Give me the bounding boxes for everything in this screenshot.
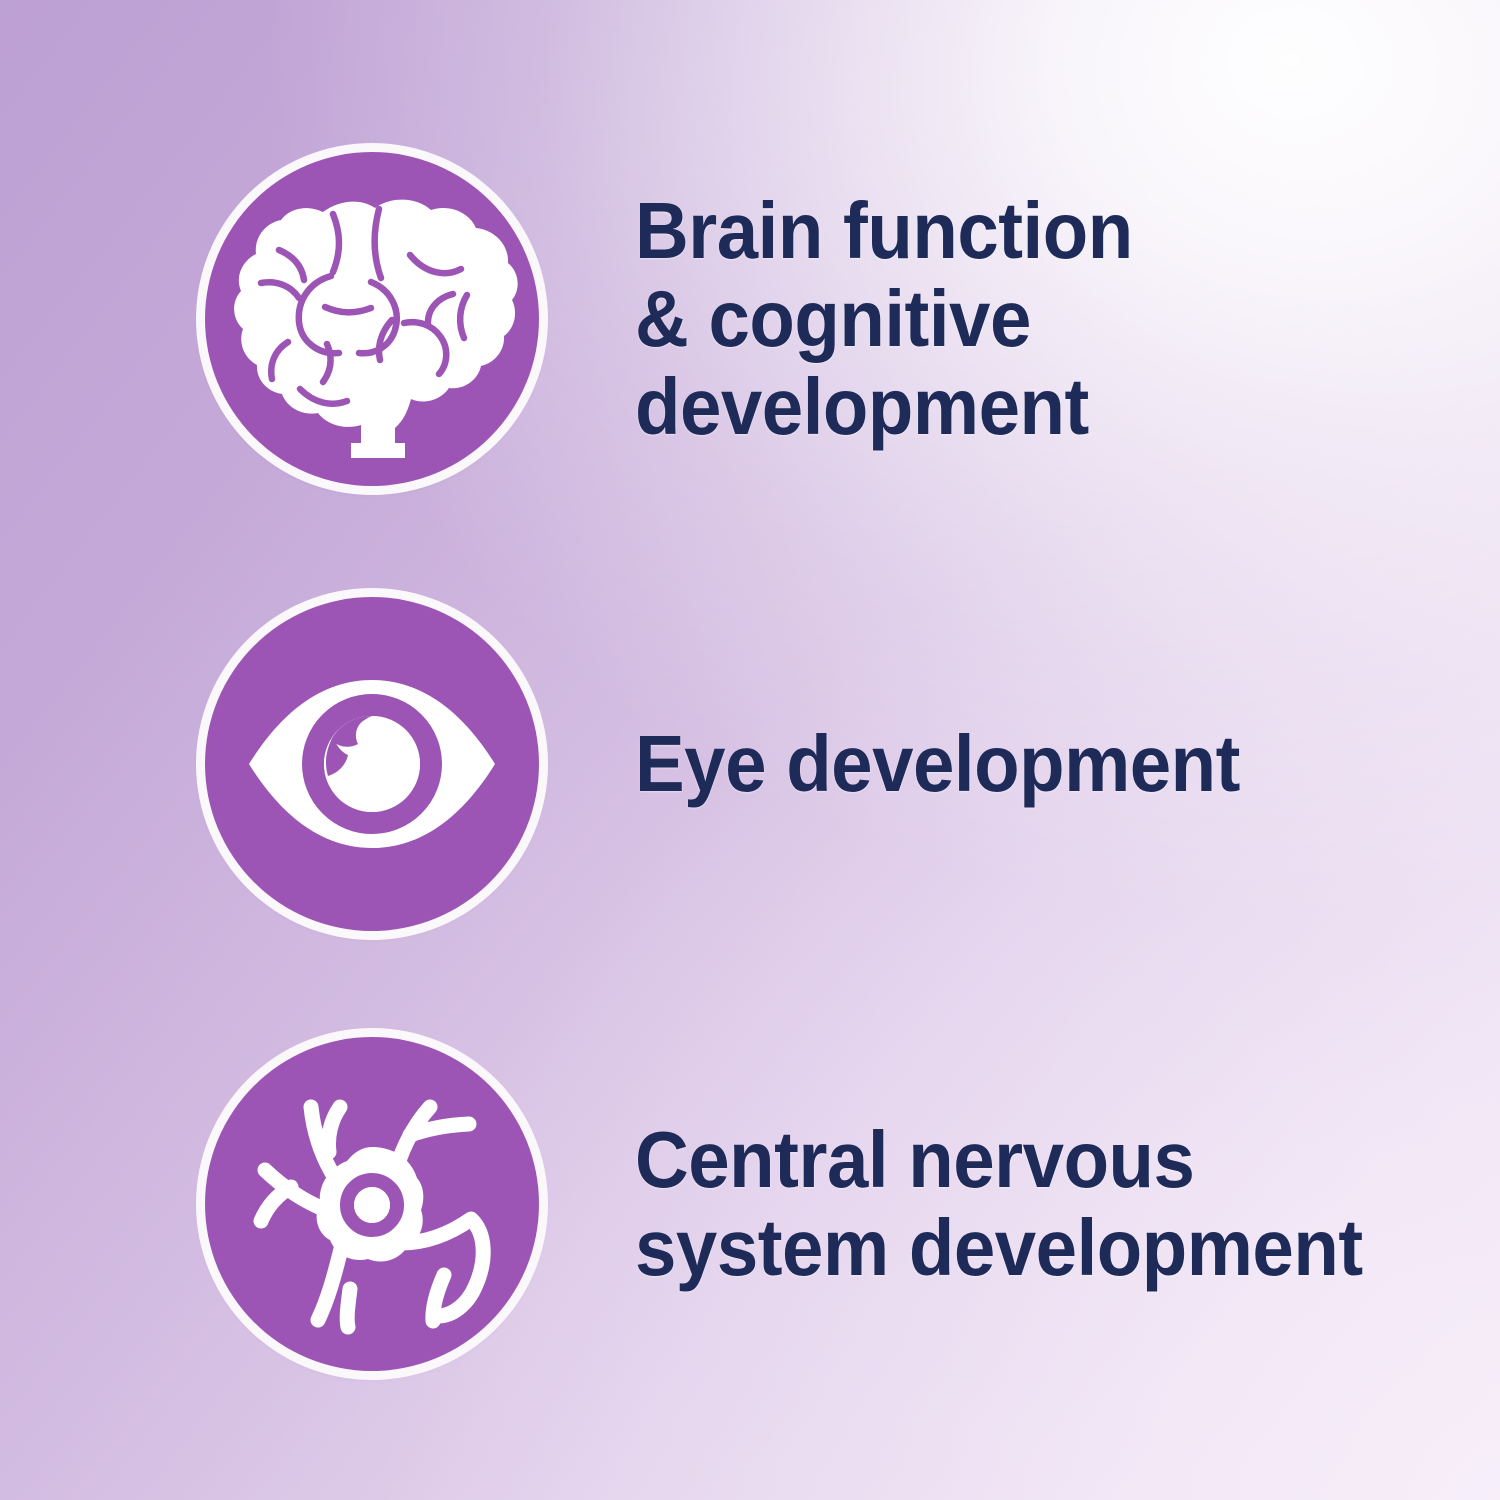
benefit-label-neuron: Central nervous system development	[635, 1116, 1439, 1292]
eye-icon-badge	[205, 597, 539, 931]
brain-icon	[205, 152, 539, 486]
benefit-row-neuron: Central nervous system development	[0, 1037, 1500, 1371]
benefit-row-eye: Eye development	[0, 597, 1500, 931]
benefit-label-brain: Brain function & cognitive development	[635, 187, 1439, 451]
eye-icon	[205, 597, 539, 931]
benefits-infographic: Brain function & cognitive development E…	[0, 0, 1500, 1500]
benefit-row-brain: Brain function & cognitive development	[0, 152, 1500, 486]
benefit-label-eye: Eye development	[635, 720, 1439, 808]
neuron-icon	[205, 1037, 539, 1371]
neuron-icon-badge	[205, 1037, 539, 1371]
brain-icon-badge	[205, 152, 539, 486]
